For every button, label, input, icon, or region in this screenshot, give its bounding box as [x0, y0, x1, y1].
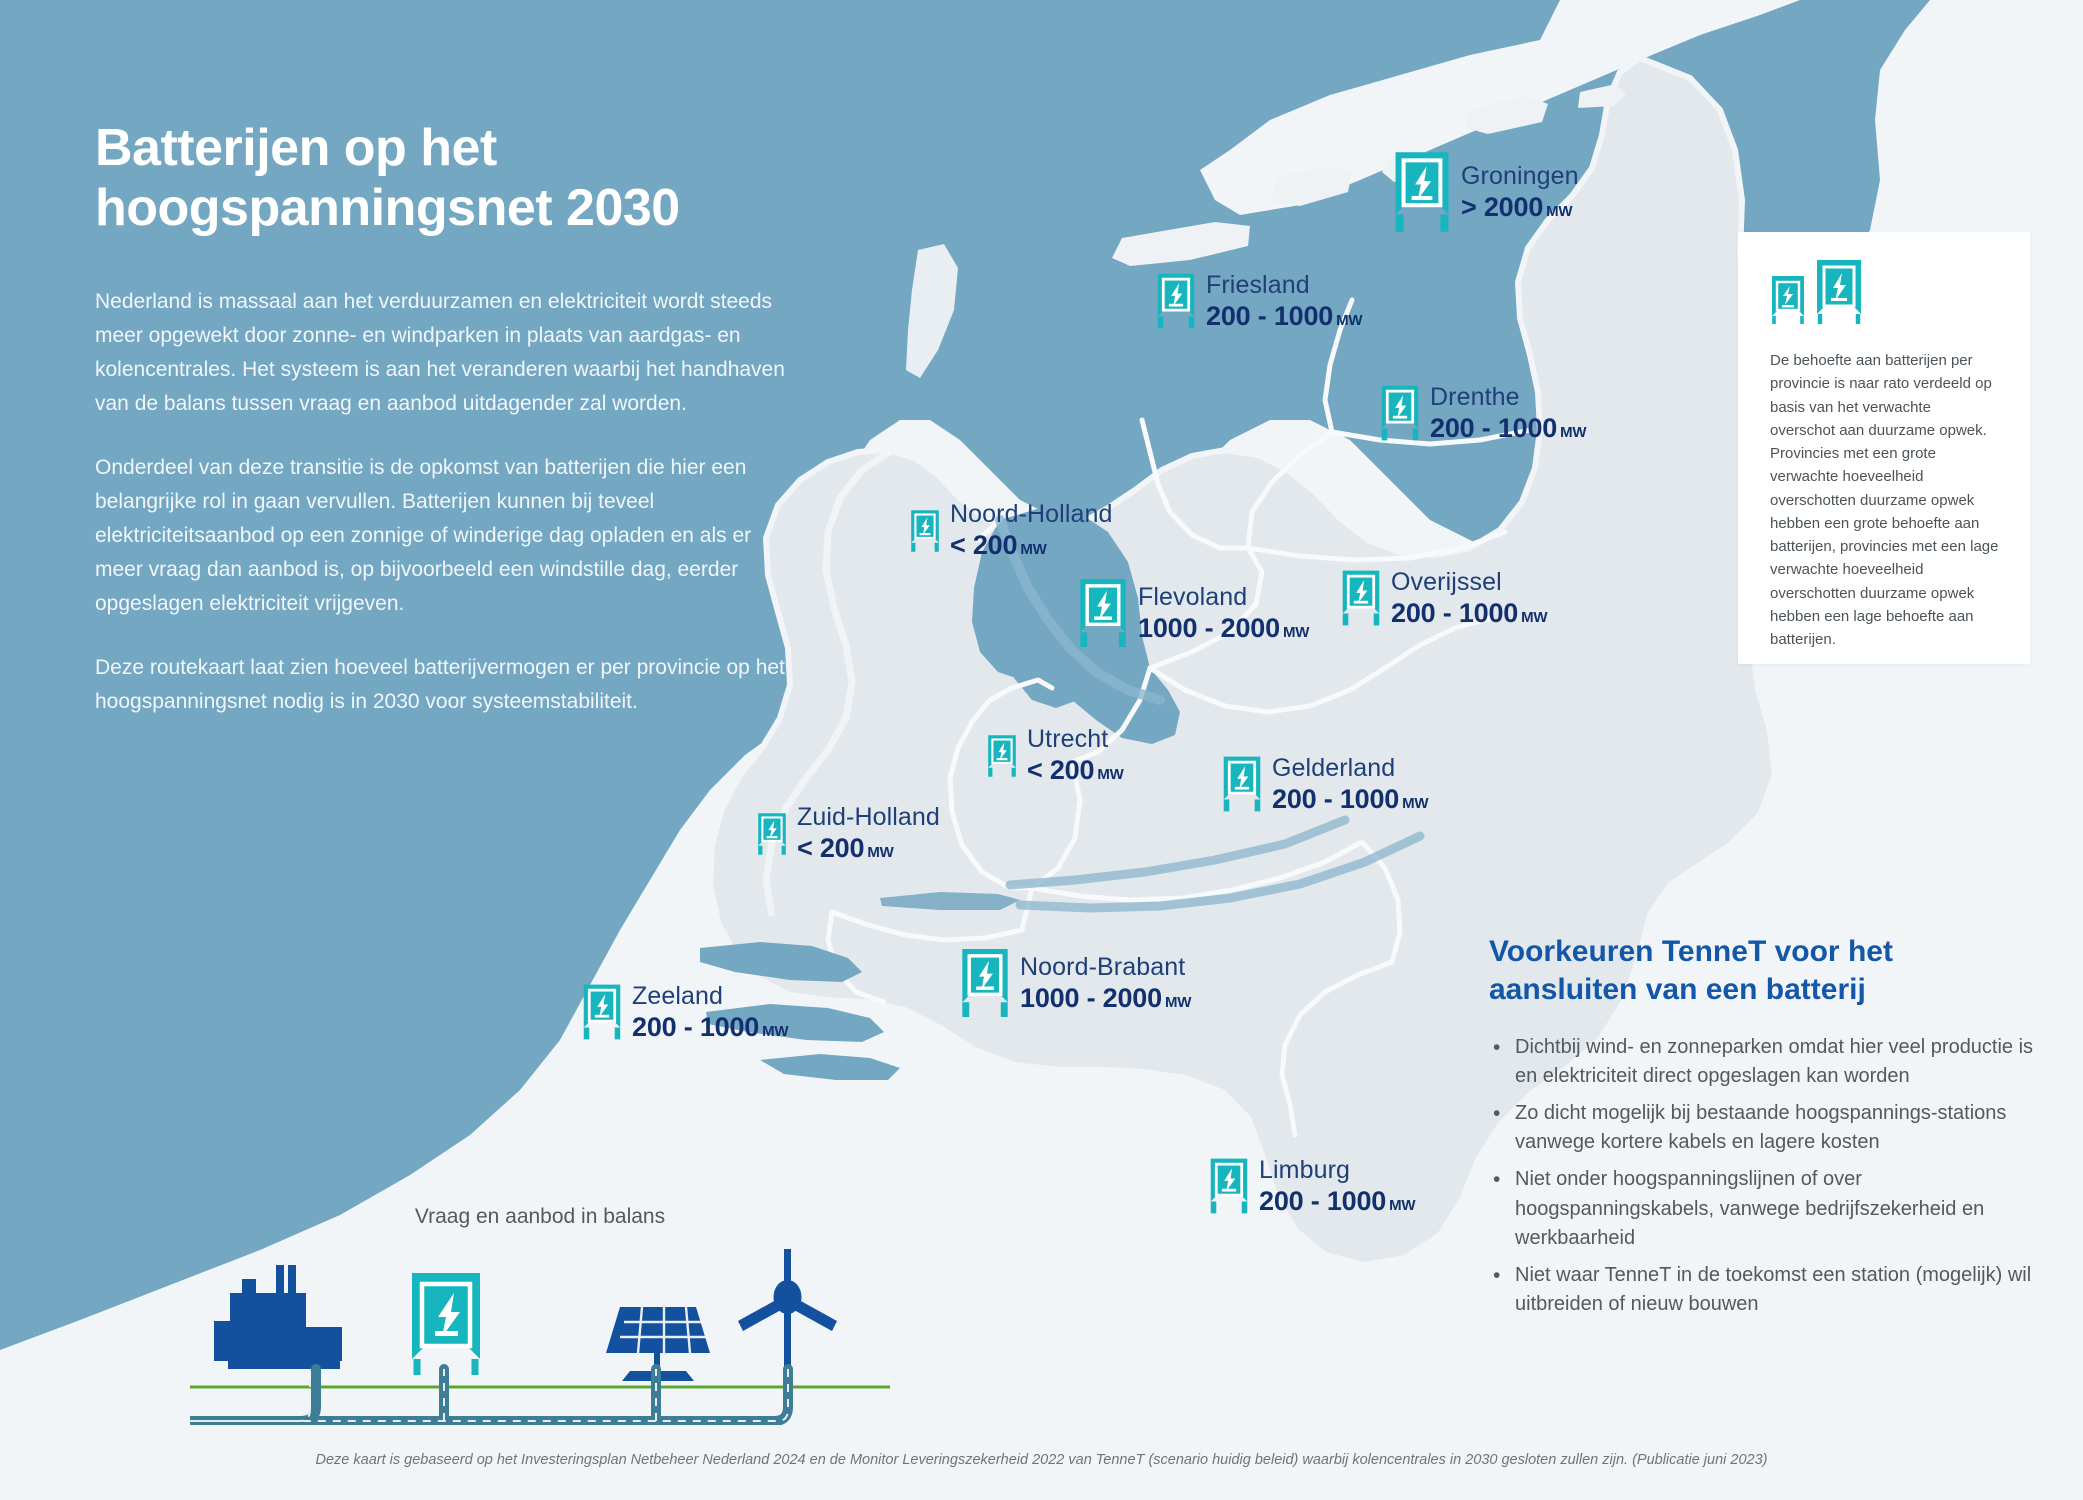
- capacity-value: 1000 - 2000: [1138, 613, 1280, 643]
- province-name: Gelderland: [1272, 756, 1428, 781]
- province-label: Zeeland200 - 1000MW: [632, 984, 788, 1041]
- battery-icon: [1078, 577, 1128, 649]
- province-capacity: 200 - 1000MW: [1391, 600, 1547, 627]
- capacity-value: < 200: [1027, 755, 1094, 785]
- province-capacity: 200 - 1000MW: [1206, 303, 1362, 330]
- capacity-value: 1000 - 2000: [1020, 983, 1162, 1013]
- province-marker-flevoland[interactable]: Flevoland1000 - 2000MW: [1078, 577, 1309, 649]
- province-name: Noord-Brabant: [1020, 955, 1191, 980]
- preference-item: Niet waar TenneT in de toekomst een stat…: [1489, 1261, 2034, 1320]
- province-name: Zuid-Holland: [797, 805, 940, 830]
- legend-icons: [1770, 258, 2000, 331]
- capacity-value: 200 - 1000: [1430, 413, 1557, 443]
- province-marker-friesland[interactable]: Friesland200 - 1000MW: [1156, 272, 1362, 330]
- balance-diagram-svg: [190, 1235, 890, 1425]
- balance-diagram: Vraag en aanbod in balans: [190, 1205, 890, 1425]
- province-marker-overijssel[interactable]: Overijssel200 - 1000MW: [1341, 569, 1547, 627]
- province-marker-gelderland[interactable]: Gelderland200 - 1000MW: [1222, 755, 1428, 813]
- province-name: Groningen: [1461, 164, 1579, 189]
- infographic-root: Batterijen op het hoogspanningsnet 2030 …: [0, 0, 2083, 1500]
- province-marker-utrecht[interactable]: Utrecht< 200MW: [987, 727, 1124, 784]
- battery-icon: [960, 947, 1010, 1019]
- province-name: Utrecht: [1027, 727, 1124, 752]
- province-capacity: 1000 - 2000MW: [1138, 615, 1309, 642]
- capacity-unit: MW: [1389, 1197, 1415, 1214]
- capacity-unit: MW: [1402, 795, 1428, 812]
- province-label: Flevoland1000 - 2000MW: [1138, 585, 1309, 642]
- cable-network: [190, 1369, 788, 1421]
- province-marker-noord-holland[interactable]: Noord-Holland< 200MW: [910, 502, 1113, 559]
- province-label: Limburg200 - 1000MW: [1259, 1158, 1415, 1215]
- battery-icon: [910, 509, 940, 553]
- province-label: Noord-Holland< 200MW: [950, 502, 1113, 559]
- capacity-unit: MW: [1020, 541, 1046, 558]
- legend-card: De behoefte aan batterijen per provincie…: [1738, 232, 2030, 664]
- province-name: Flevoland: [1138, 585, 1309, 610]
- battery-icon: [1380, 384, 1420, 442]
- capacity-value: 200 - 1000: [1206, 301, 1333, 331]
- battery-icon: [1156, 272, 1196, 330]
- capacity-unit: MW: [762, 1023, 788, 1040]
- province-marker-zeeland[interactable]: Zeeland200 - 1000MW: [582, 983, 788, 1041]
- capacity-value: 200 - 1000: [1259, 1186, 1386, 1216]
- province-capacity: 200 - 1000MW: [1430, 415, 1586, 442]
- capacity-value: 200 - 1000: [632, 1012, 759, 1042]
- province-capacity: 1000 - 2000MW: [1020, 985, 1191, 1012]
- power-plant-icon: [214, 1265, 342, 1369]
- province-label: Friesland200 - 1000MW: [1206, 273, 1362, 330]
- province-name: Limburg: [1259, 1158, 1415, 1183]
- battery-icon: [412, 1273, 480, 1375]
- province-capacity: 200 - 1000MW: [1272, 786, 1428, 813]
- province-marker-noord-brabant[interactable]: Noord-Brabant1000 - 2000MW: [960, 947, 1191, 1019]
- province-name: Zeeland: [632, 984, 788, 1009]
- battery-icon-large: [1815, 258, 1863, 331]
- capacity-unit: MW: [1283, 624, 1309, 641]
- capacity-value: < 200: [797, 833, 864, 863]
- battery-icon: [1222, 755, 1262, 813]
- province-capacity: < 200MW: [1027, 757, 1124, 784]
- province-name: Drenthe: [1430, 385, 1586, 410]
- province-label: Utrecht< 200MW: [1027, 727, 1124, 784]
- preferences-title: Voorkeuren TenneT voor het aansluiten va…: [1489, 933, 2034, 1009]
- capacity-value: < 200: [950, 530, 1017, 560]
- capacity-unit: MW: [1097, 766, 1123, 783]
- capacity-value: 200 - 1000: [1272, 784, 1399, 814]
- preference-item: Niet onder hoogspanningslijnen of over h…: [1489, 1165, 2034, 1254]
- province-capacity: < 200MW: [797, 835, 940, 862]
- province-capacity: < 200MW: [950, 532, 1113, 559]
- capacity-unit: MW: [1165, 994, 1191, 1011]
- battery-icon: [1393, 150, 1451, 234]
- capacity-unit: MW: [867, 844, 893, 861]
- province-capacity: 200 - 1000MW: [632, 1014, 788, 1041]
- preferences-section: Voorkeuren TenneT voor het aansluiten va…: [1489, 933, 2034, 1327]
- province-label: Gelderland200 - 1000MW: [1272, 756, 1428, 813]
- cable-dashes: [190, 1369, 788, 1421]
- capacity-unit: MW: [1336, 312, 1362, 329]
- battery-icon: [987, 734, 1017, 778]
- battery-icon: [1341, 569, 1381, 627]
- footnote: Deze kaart is gebaseerd op het Investeri…: [0, 1452, 2083, 1468]
- province-marker-groningen[interactable]: Groningen> 2000MW: [1393, 150, 1579, 234]
- province-name: Overijssel: [1391, 570, 1547, 595]
- province-label: Overijssel200 - 1000MW: [1391, 570, 1547, 627]
- capacity-value: > 2000: [1461, 192, 1543, 222]
- legend-text: De behoefte aan batterijen per provincie…: [1770, 349, 2000, 651]
- province-label: Zuid-Holland< 200MW: [797, 805, 940, 862]
- balance-diagram-title: Vraag en aanbod in balans: [190, 1205, 890, 1229]
- battery-icon-small: [1770, 274, 1806, 331]
- province-label: Noord-Brabant1000 - 2000MW: [1020, 955, 1191, 1012]
- battery-icon: [1209, 1157, 1249, 1215]
- province-capacity: > 2000MW: [1461, 194, 1579, 221]
- province-label: Groningen> 2000MW: [1461, 164, 1579, 221]
- preferences-list: Dichtbij wind- en zonneparken omdat hier…: [1489, 1033, 2034, 1320]
- province-label: Drenthe200 - 1000MW: [1430, 385, 1586, 442]
- capacity-value: 200 - 1000: [1391, 598, 1518, 628]
- province-marker-limburg[interactable]: Limburg200 - 1000MW: [1209, 1157, 1415, 1215]
- battery-icon: [582, 983, 622, 1041]
- province-capacity: 200 - 1000MW: [1259, 1188, 1415, 1215]
- capacity-unit: MW: [1521, 609, 1547, 626]
- capacity-unit: MW: [1546, 203, 1572, 220]
- battery-icon: [757, 812, 787, 856]
- province-marker-drenthe[interactable]: Drenthe200 - 1000MW: [1380, 384, 1586, 442]
- wind-turbine-icon: [738, 1249, 837, 1375]
- province-marker-zuid-holland[interactable]: Zuid-Holland< 200MW: [757, 805, 940, 862]
- province-name: Friesland: [1206, 273, 1362, 298]
- capacity-unit: MW: [1560, 424, 1586, 441]
- province-name: Noord-Holland: [950, 502, 1113, 527]
- preference-item: Zo dicht mogelijk bij bestaande hoogspan…: [1489, 1099, 2034, 1158]
- preference-item: Dichtbij wind- en zonneparken omdat hier…: [1489, 1033, 2034, 1092]
